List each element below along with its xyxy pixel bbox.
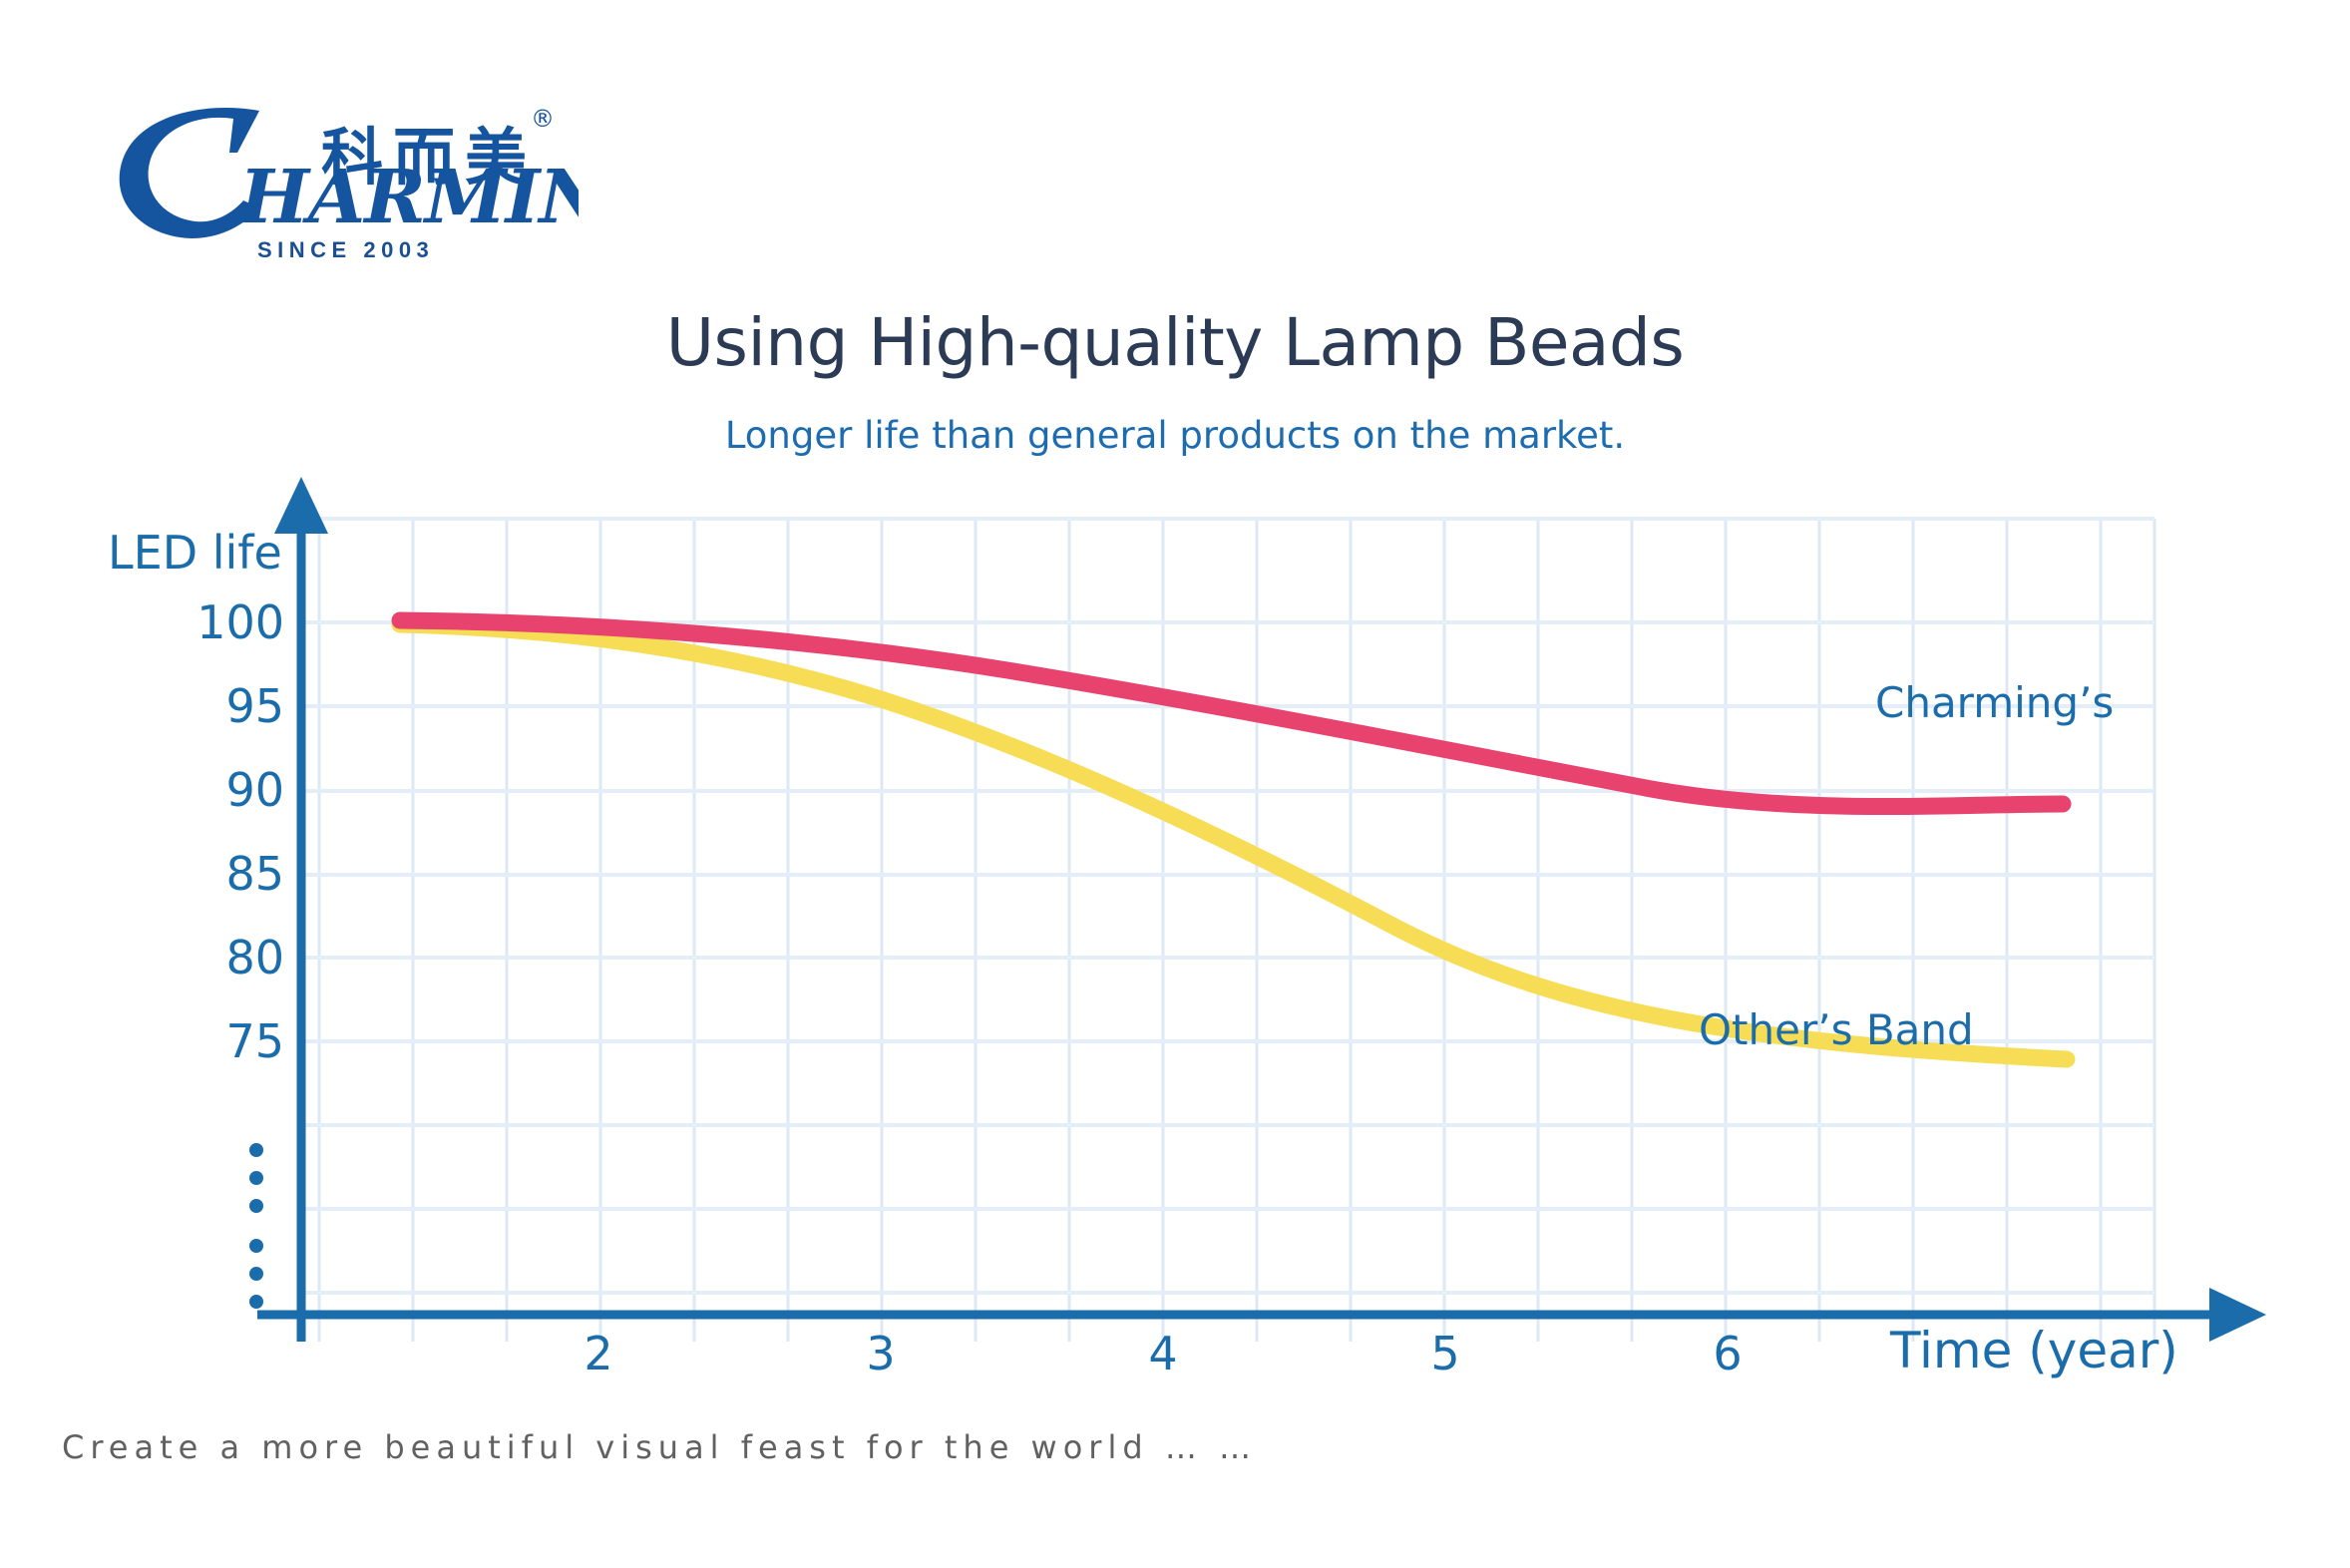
y-tick-75: 75 — [105, 1014, 284, 1068]
series-label-others-band: Other’s Band — [1699, 1005, 1974, 1054]
x-tick-5: 5 — [1405, 1327, 1485, 1380]
footer-tagline: Create a more beautiful visual feast for… — [62, 1428, 1257, 1466]
y-tick-95: 95 — [105, 679, 284, 733]
x-tick-3: 3 — [841, 1327, 921, 1380]
y-tick-80: 80 — [105, 931, 284, 984]
x-tick-6: 6 — [1688, 1327, 1767, 1380]
series-label-charmings: Charming’s — [1875, 678, 2114, 727]
x-tick-4: 4 — [1123, 1327, 1203, 1380]
y-tick-90: 90 — [105, 763, 284, 817]
y-axis-title: LED life — [108, 526, 282, 580]
x-axis-title: Time (year) — [1890, 1322, 2178, 1379]
y-tick-85: 85 — [105, 847, 284, 901]
y-tick-100: 100 — [105, 595, 284, 649]
x-tick-2: 2 — [559, 1327, 638, 1380]
y-axis-break-dots — [249, 1143, 263, 1309]
series-line-others-band — [400, 624, 2067, 1059]
